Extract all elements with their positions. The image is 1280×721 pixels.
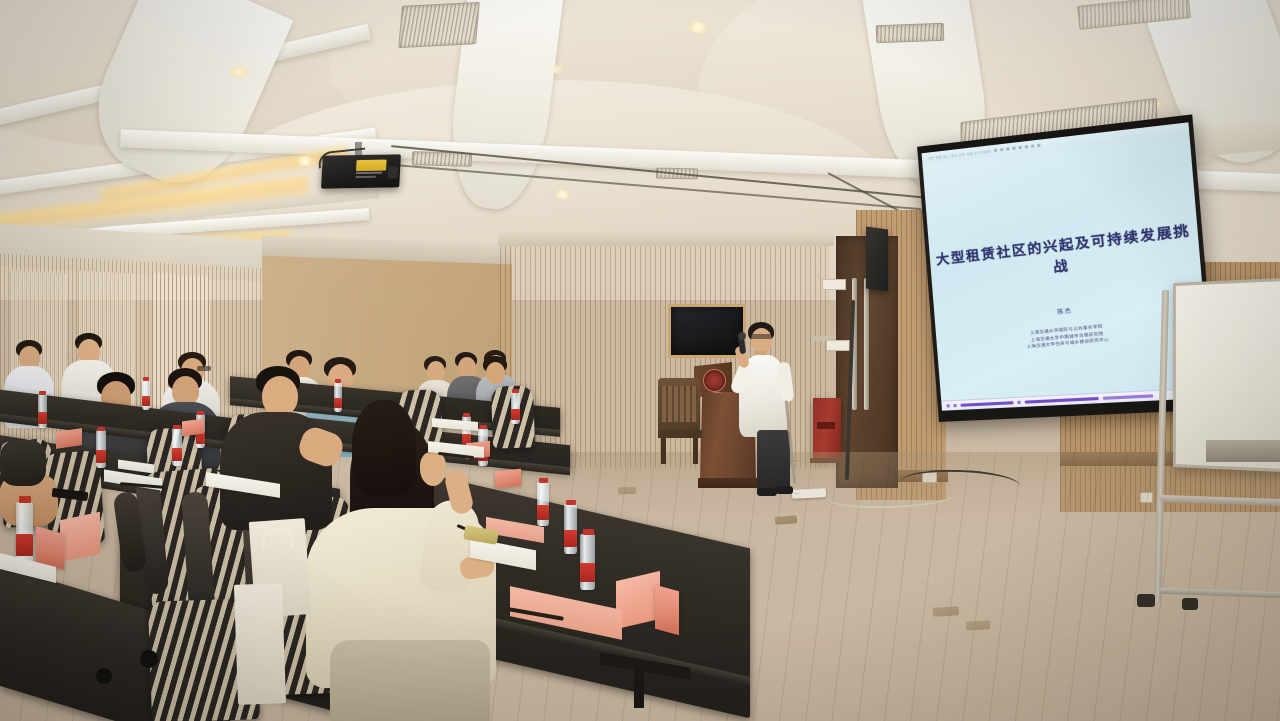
- door-handle-right[interactable]: [864, 278, 869, 410]
- chair-caster-2: [96, 668, 112, 684]
- attendee-a3-glasses: [197, 366, 211, 371]
- bottle-2: [96, 430, 106, 468]
- wall-shelf: [812, 336, 836, 341]
- name-tent-6: [616, 571, 660, 629]
- attendee-f2-body: [0, 440, 46, 486]
- bottle-1: [38, 394, 47, 428]
- bottle-12: [580, 534, 595, 590]
- ceiling-vent-3: [876, 23, 945, 43]
- woman-lap: [330, 640, 490, 721]
- downlight-6: [554, 190, 571, 199]
- downlight-2: [688, 22, 708, 33]
- wooden-chair-seat: [658, 430, 702, 438]
- speaker-shoe-left: [757, 488, 777, 496]
- wall-speaker: [866, 226, 888, 291]
- speaker-glasses: [750, 334, 772, 339]
- wooden-chair-slats: [660, 386, 698, 422]
- floor-port-2: [775, 515, 798, 525]
- red-cabinet: [813, 398, 841, 460]
- floor-port-4: [966, 620, 990, 630]
- tote-handle-1: [262, 528, 294, 549]
- bottle-9: [511, 392, 520, 424]
- bottle-6: [334, 382, 342, 412]
- name-tent-2: [182, 419, 204, 437]
- wall-sign-2: [826, 340, 850, 351]
- whiteboard-tray: [1206, 440, 1280, 462]
- bottle-10: [537, 482, 549, 526]
- conference-room-photo: 文件 开始 插入 设计 切换 动画 幻灯片放映 大型租赁社区的兴起及可持续发展挑…: [0, 0, 1280, 721]
- speaker-head: [751, 328, 772, 353]
- bottle-11: [564, 504, 577, 554]
- wooden-chair-leg-2: [693, 438, 698, 464]
- attendee-r1-head: [486, 362, 505, 384]
- attendee-b2-head: [458, 357, 476, 378]
- bottle-4: [172, 428, 182, 466]
- ceiling-vent-1: [398, 2, 480, 48]
- microphone-head: [738, 332, 746, 340]
- attendee-f1-head: [262, 376, 298, 416]
- wooden-chair-leg-1: [661, 438, 666, 464]
- tote-bag-2: [234, 583, 286, 705]
- name-tent-4: [495, 469, 521, 489]
- whiteboard-caster-right: [1182, 598, 1198, 610]
- downlight-5: [296, 156, 314, 166]
- wall-sign-1: [822, 279, 846, 290]
- downlight-1: [228, 66, 250, 78]
- wall-back-trim: [498, 232, 834, 246]
- bottle-3: [142, 380, 150, 410]
- downlight-7: [548, 65, 564, 74]
- bottle-13: [16, 502, 33, 564]
- attendee-b1-head: [427, 361, 445, 382]
- table-front-leg: [634, 666, 644, 708]
- speaker-shoe-right: [776, 486, 793, 494]
- ppt-ribbon-text: 文件 开始 插入 设计 切换 动画 幻灯片放映: [928, 149, 991, 160]
- floor-port-3: [933, 606, 959, 616]
- name-tent-6-side: [655, 585, 679, 635]
- name-tent-1: [56, 428, 82, 449]
- podium-base: [698, 478, 760, 488]
- emblem-inner: [703, 369, 726, 392]
- whiteboard-caster-left: [1137, 594, 1155, 607]
- name-tent-5: [60, 512, 100, 563]
- floor-port-5: [618, 487, 636, 494]
- screen-surface: 文件 开始 插入 设计 切换 动画 幻灯片放映 大型租赁社区的兴起及可持续发展挑…: [922, 122, 1212, 410]
- chair-caster-1: [140, 650, 158, 668]
- speaker-trousers: [757, 430, 790, 492]
- slide-title: 大型租赁社区的兴起及可持续发展挑战: [929, 217, 1201, 289]
- woman-face: [420, 452, 446, 486]
- woman2-hair: [352, 400, 416, 496]
